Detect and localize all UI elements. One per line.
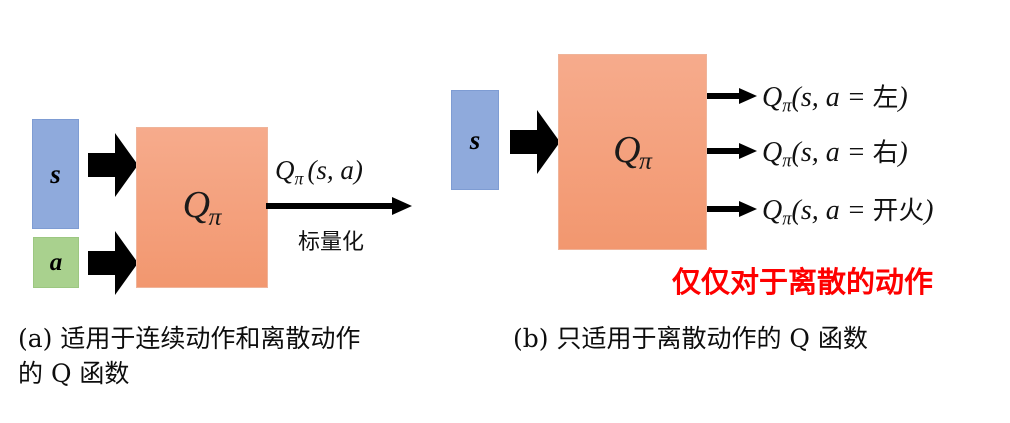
panel-b-output-label-1: Qπ(s, a = 左) — [762, 77, 908, 117]
panel-b-caption: (b) 只适用于离散动作的 Q 函数 — [513, 322, 868, 357]
panel-a-state-label: s — [50, 159, 61, 190]
panel-b-output-label-2: Qπ(s, a = 右) — [762, 132, 908, 172]
panel-b-output-arrow-3 — [707, 199, 757, 219]
panel-b-network-label: Qπ — [613, 128, 652, 176]
panel-a-action-label: a — [50, 249, 63, 277]
panel-b-state-input-arrow — [510, 110, 560, 174]
panel-a-state-input-arrow — [88, 133, 138, 197]
panel-a-caption-line2: 的 Q 函数 — [18, 357, 478, 392]
panel-a-output-expression: Qπ(s, a) — [275, 155, 363, 189]
panel-a-action-input-arrow — [88, 231, 138, 295]
panel-a-output-arrow — [266, 196, 412, 216]
panel-a-network-box: Qπ — [136, 127, 268, 288]
panel-a-caption-line1: (a) 适用于连续动作和离散动作 — [18, 322, 478, 357]
panel-b-state-box: s — [451, 90, 499, 190]
panel-b-state-label: s — [470, 125, 481, 156]
panel-b-warning-text: 仅仅对于离散的动作 — [672, 259, 933, 301]
panel-b-output-label-3: Qπ(s, a = 开火) — [762, 190, 933, 230]
panel-a-output-note: 标量化 — [298, 224, 364, 256]
panel-a-caption: (a) 适用于连续动作和离散动作 的 Q 函数 — [18, 322, 478, 391]
panel-b-output-arrow-1 — [707, 86, 757, 106]
panel-b-output-arrow-2 — [707, 141, 757, 161]
panel-a-state-box: s — [32, 119, 79, 229]
panel-b-network-box: Qπ — [558, 54, 707, 250]
figure-canvas: s a Qπ Qπ(s, a) 标量化 (a) 适用于连续动作和离散动作 的 Q… — [0, 0, 1010, 423]
panel-a-network-label: Qπ — [183, 183, 222, 231]
panel-a-action-box: a — [33, 237, 79, 288]
